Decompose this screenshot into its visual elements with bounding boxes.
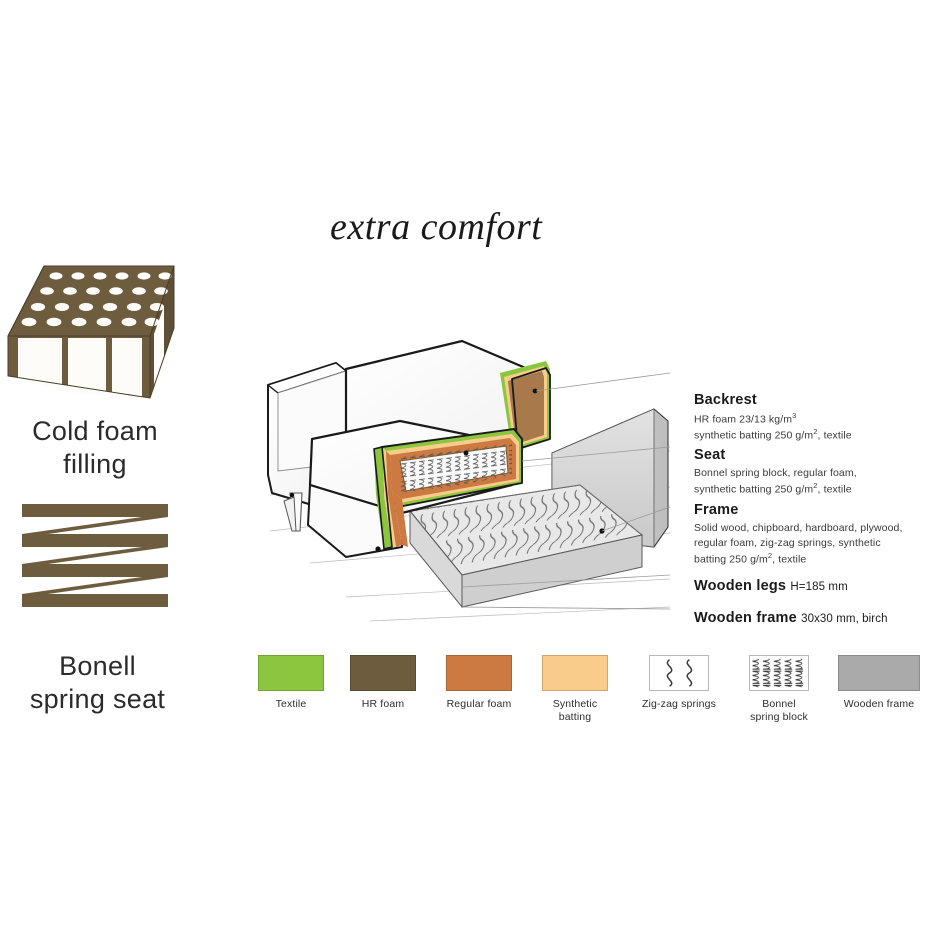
- page-title: extra comfort: [330, 205, 542, 249]
- frame-anchor-dot: [375, 546, 380, 551]
- legend-item-zigzag-springs: Zig-zag springs: [636, 655, 722, 711]
- callout-backrest-line-1: synthetic batting 250 g/m2, textile: [694, 427, 940, 444]
- cold-foam-block-icon: [2, 258, 192, 413]
- legend-swatch-hr-foam: [350, 655, 416, 691]
- callout-wooden-legs-head: Wooden legs: [694, 578, 786, 594]
- legend-label-wooden-frame: Wooden frame: [828, 698, 930, 711]
- legend-item-textile: Textile: [258, 655, 324, 711]
- legend-item-wooden-frame: Wooden frame: [828, 655, 930, 711]
- legend-label-regular-foam: Regular foam: [446, 698, 512, 711]
- legend-label-bonnel-spring-block: Bonnel spring block: [736, 698, 822, 724]
- callout-backrest-body: HR foam 23/13 kg/m3 synthetic batting 25…: [694, 411, 940, 444]
- callout-seat-line-0: Bonnel spring block, regular foam,: [694, 466, 940, 481]
- legend-label-synthetic-batting: Synthetic batting: [542, 698, 608, 724]
- legend-swatch-zigzag-springs: [649, 655, 709, 691]
- callout-wooden-frame: Wooden frame 30x30 mm, birch: [694, 610, 940, 629]
- legend-label-textile: Textile: [258, 698, 324, 711]
- callout-frame-line-1: regular foam, zig-zag springs, synthetic: [694, 536, 940, 551]
- callout-frame-line-0: Solid wood, chipboard, hardboard, plywoo…: [694, 521, 940, 536]
- sofa-cutaway-diagram: [250, 335, 670, 635]
- diagram-canvas: extra comfort: [0, 0, 940, 940]
- callout-seat-body: Bonnel spring block, regular foam, synth…: [694, 466, 940, 498]
- legend-item-synthetic-batting: Synthetic batting: [542, 655, 608, 724]
- callout-wooden-frame-head: Wooden frame: [694, 610, 797, 626]
- wooden-leg-front: [284, 493, 302, 531]
- callout-backrest: Backrest HR foam 23/13 kg/m3 synthetic b…: [694, 392, 940, 444]
- callout-frame: Frame Solid wood, chipboard, hardboard, …: [694, 502, 940, 568]
- legend-swatch-textile: [258, 655, 324, 691]
- legend-swatch-regular-foam: [446, 655, 512, 691]
- callout-seat: Seat Bonnel spring block, regular foam, …: [694, 447, 940, 498]
- callout-wooden-frame-sub: 30x30 mm, birch: [801, 613, 888, 625]
- legend-label-hr-foam: HR foam: [350, 698, 416, 711]
- materials-legend: Textile HR foam Regular foam Synthetic b…: [258, 655, 930, 735]
- callout-backrest-title: Backrest: [694, 392, 940, 409]
- cold-foam-caption: Cold foamfilling: [0, 415, 190, 481]
- legend-item-bonnel-spring-block: Bonnel spring block: [736, 655, 822, 724]
- callout-seat-line-1: synthetic batting 250 g/m2, textile: [694, 481, 940, 498]
- bonell-spring-caption: Bonellspring seat: [0, 650, 195, 716]
- legend-swatch-bonnel-spring-block: [749, 655, 809, 691]
- bonnel-spring-block-icon: [750, 656, 808, 690]
- seat-anchor-dot: [464, 451, 469, 456]
- legend-label-zigzag-springs: Zig-zag springs: [636, 698, 722, 711]
- callout-wooden-frame-title: Wooden frame 30x30 mm, birch: [694, 610, 940, 627]
- callout-backrest-line-0: HR foam 23/13 kg/m3: [694, 411, 940, 428]
- leg-anchor-dot: [290, 493, 294, 497]
- legend-swatch-wooden-frame: [838, 655, 920, 691]
- callout-wooden-legs-sub: H=185 mm: [790, 581, 847, 593]
- callout-frame-line-2: batting 250 g/m2, textile: [694, 551, 940, 568]
- legend-item-regular-foam: Regular foam: [446, 655, 512, 711]
- callout-wooden-legs-title: Wooden legs H=185 mm: [694, 578, 940, 595]
- bonell-spring-zigzag-icon: [18, 500, 173, 635]
- callout-frame-title: Frame: [694, 502, 940, 519]
- zigzag-spring-icon: [650, 656, 708, 690]
- callout-wooden-legs: Wooden legs H=185 mm: [694, 578, 940, 597]
- callout-frame-body: Solid wood, chipboard, hardboard, plywoo…: [694, 521, 940, 568]
- legend-swatch-synthetic-batting: [542, 655, 608, 691]
- legend-item-hr-foam: HR foam: [350, 655, 416, 711]
- callout-seat-title: Seat: [694, 447, 940, 464]
